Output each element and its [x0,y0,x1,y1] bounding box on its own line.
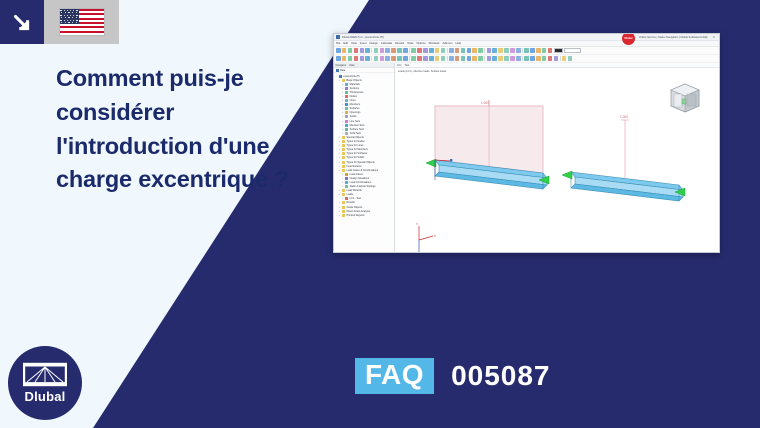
toolbar-icon[interactable] [530,56,535,61]
member-load-value-right: 1.000 [620,115,628,119]
toolbar-icon[interactable] [472,48,477,53]
tree-item-icon [342,201,345,204]
truss-bridge-icon [23,362,67,387]
toolbar-icon[interactable] [391,56,396,61]
tree-item-label: Printout Reports [346,214,364,217]
toolbar-icon[interactable] [461,56,466,61]
tree-item-label: Direct Strain Analysis [346,210,370,213]
toolbar-icon[interactable] [524,56,529,61]
app-body: NavigatorData Data -excentricite.rf5+Bas… [334,63,719,253]
toolbar-icon[interactable] [435,48,440,53]
tree-item-label: Guide Objects [346,206,362,209]
toolbar-separator [371,56,372,61]
toolbar-icon[interactable] [403,48,408,53]
node-marker [450,159,452,161]
chevron-right-icon[interactable]: + [339,201,341,204]
toolbar-icon[interactable] [423,56,428,61]
tree-item[interactable]: +Printout Reports [336,213,395,217]
toolbar-icon[interactable] [365,48,370,53]
menu-item-options[interactable]: Options [416,42,425,45]
faq-badge: FAQ 005087 [355,358,551,394]
toolbar-icon[interactable] [492,48,497,53]
title-line-2: considérer [56,96,356,130]
toolbar-separator [522,48,523,53]
toolbar-icon[interactable] [374,56,379,61]
toolbar-icon[interactable] [487,56,492,61]
toolbar-icon[interactable] [380,56,385,61]
app-toolbar-row-2[interactable] [334,55,719,63]
app-toolbar-row-1[interactable] [334,47,719,55]
menu-item-add-ons[interactable]: Add-ons [443,42,453,45]
svg-text:X: X [434,234,436,238]
toolbar-icon[interactable] [403,56,408,61]
toolbar-icon[interactable] [360,56,365,61]
toolbar-separator [409,56,410,61]
toolbar-icon[interactable] [354,56,359,61]
toolbar-separator [484,48,485,53]
support-left-start [426,159,436,167]
toolbar-icon[interactable] [380,48,385,53]
toolbar-separator [560,56,561,61]
model-viewport[interactable]: LC1Test Loads [LC1] : Member loads, Surf… [395,63,719,253]
faq-slide: Comment puis-je considérer l'introductio… [0,0,760,428]
toolbar-icon[interactable] [435,56,440,61]
toolbar-icon[interactable] [397,56,402,61]
tree-item-label: LC1 - Test [350,197,361,200]
svg-text:Y: Y [416,222,418,226]
toolbar-icon[interactable] [449,56,454,61]
viewport-tab-test[interactable]: Test [405,64,410,67]
toolbar-icon[interactable] [441,48,446,53]
menu-item-help[interactable]: Help [456,42,462,45]
toolbar-icon[interactable] [548,48,553,53]
title-line-4: charge excentrique ? [56,163,356,197]
menu-item-view[interactable]: View [351,42,357,45]
tree-item-icon [342,210,345,213]
tree-item-label: Results [346,201,354,204]
toolbar-separator [409,48,410,53]
toolbar-icon[interactable] [423,48,428,53]
toolbar-icon[interactable] [336,48,341,53]
corner-tiles [0,0,119,44]
toolbar-separator [371,48,372,53]
toolbar-icon[interactable] [542,56,547,61]
language-flag-tile[interactable] [44,0,119,44]
title-line-3: l'introduction d'une [56,130,356,164]
toolbar-icon[interactable] [536,56,541,61]
window-buttons[interactable]: — ▢ ✕ [697,35,717,39]
toolbar-icon[interactable] [562,56,567,61]
logo-wordmark: Dlubal [25,389,66,404]
surface-load-value-left: 1.000 [481,101,489,105]
toolbar-icon[interactable] [492,56,497,61]
toolbar-separator [447,56,448,61]
toolbar-icon[interactable] [548,56,553,61]
toolbar-icon[interactable] [498,56,503,61]
toolbar-icon[interactable] [487,48,492,53]
arrow-down-right-tile[interactable] [0,0,44,44]
toolbar-icon[interactable] [441,56,446,61]
chevron-right-icon[interactable]: + [339,214,341,217]
toolbar-icon[interactable] [354,48,359,53]
app-title: Dlubal RFEM 5.xx - [excentricite.rf5] [342,36,384,39]
chevron-right-icon[interactable]: + [339,210,341,213]
toolbar-icon[interactable] [397,48,402,53]
toolbar-icon[interactable] [455,56,460,61]
tree-item-icon [342,214,345,217]
view-cube-icon [671,84,699,112]
menu-item-file[interactable]: File [336,42,340,45]
toolbar-icon[interactable] [336,56,341,61]
toolbar-icon[interactable] [449,48,454,53]
toolbar-separator [522,56,523,61]
rfem-app-icon [336,35,340,39]
menu-item-edit[interactable]: Edit [343,42,348,45]
support-right-start [562,171,572,179]
toolbar-icon[interactable] [498,48,503,53]
toolbar-icon[interactable] [429,56,434,61]
toolbar-icon[interactable] [478,48,483,53]
toolbar-icon[interactable] [504,48,509,53]
chevron-right-icon[interactable]: + [339,206,341,209]
toolbar-icon[interactable] [467,56,472,61]
toolbar-icon[interactable] [348,56,353,61]
toolbar-icon[interactable] [510,56,515,61]
faq-number: 005087 [451,362,550,390]
chevron-right-icon[interactable]: + [342,197,344,200]
toolbar-icon[interactable] [478,56,483,61]
toolbar-icon[interactable] [417,56,422,61]
faq-tag: FAQ [355,358,434,394]
color-swatch-combo[interactable] [554,48,563,53]
toolbar-icon[interactable] [348,48,353,53]
load-case-combo[interactable] [564,48,581,53]
toolbar-icon[interactable] [385,48,390,53]
menu-item-tools[interactable]: Tools [407,42,413,45]
dlubal-logo[interactable]: Dlubal [8,346,82,420]
toolbar-icon[interactable] [461,48,466,53]
toolbar-icon[interactable] [391,48,396,53]
menu-item-calculate[interactable]: Calculate [381,42,392,45]
tree-item-icon [342,206,345,209]
toolbar-icon[interactable] [385,56,390,61]
viewport-tab-lc1[interactable]: LC1 [397,64,402,67]
menu-item-design[interactable]: Design [370,42,378,45]
toolbar-icon[interactable] [472,56,477,61]
toolbar-separator [447,48,448,53]
arrow-down-right-icon [11,11,33,33]
toolbar-icon[interactable] [360,48,365,53]
toolbar-icon[interactable] [542,48,547,53]
toolbar-icon[interactable] [417,48,422,53]
toolbar-icon[interactable] [536,48,541,53]
page-title: Comment puis-je considérer l'introductio… [56,62,356,197]
toolbar-icon[interactable] [554,56,559,61]
toolbar-separator [484,56,485,61]
toolbar-icon[interactable] [524,48,529,53]
toolbar-icon[interactable] [467,48,472,53]
menu-item-results[interactable]: Results [395,42,404,45]
menu-item-insert[interactable]: Insert [360,42,367,45]
us-flag-icon [59,8,105,36]
rfem-screenshot[interactable]: Dlubal Dlubal RFEM 5.xx - [excentricite.… [333,33,720,253]
tree-item-icon [345,197,348,200]
toolbar-icon[interactable] [374,48,379,53]
toolbar-icon[interactable] [516,56,521,61]
toolbar-icon[interactable] [411,48,416,53]
toolbar-icon[interactable] [504,56,509,61]
toolbar-icon[interactable] [455,48,460,53]
app-titlebar: Dlubal RFEM 5.xx - [excentricite.rf5] On… [334,34,719,41]
toolbar-icon[interactable] [568,56,573,61]
toolbar-icon[interactable] [342,56,347,61]
global-axis-triad: X Y Z [416,222,436,253]
toolbar-icon[interactable] [516,48,521,53]
toolbar-icon[interactable] [510,48,515,53]
title-line-1: Comment puis-je [56,62,356,96]
menu-item-windows[interactable]: Windows [429,42,440,45]
toolbar-icon[interactable] [342,48,347,53]
toolbar-icon[interactable] [411,56,416,61]
toolbar-icon[interactable] [429,48,434,53]
model-graphics[interactable]: 1.000 [395,68,720,253]
toolbar-icon[interactable] [365,56,370,61]
toolbar-icon[interactable] [530,48,535,53]
